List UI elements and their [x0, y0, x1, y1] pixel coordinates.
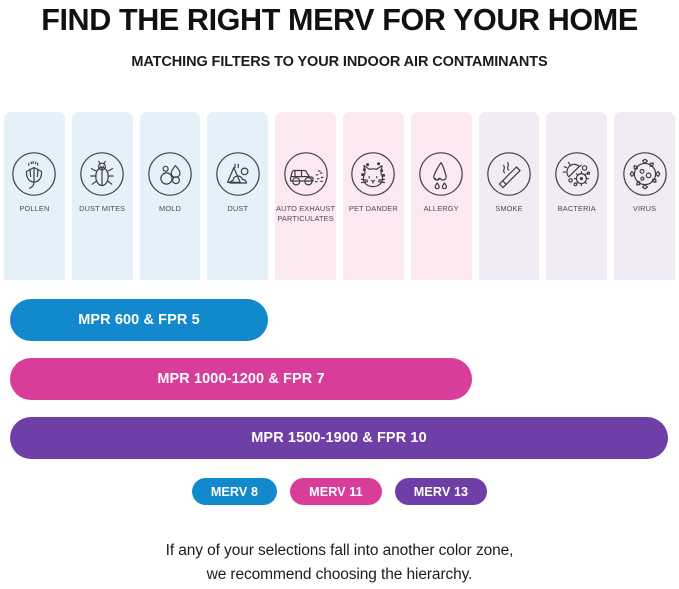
contaminant-column-bacteria: BACTERIA: [546, 112, 607, 280]
contaminant-label: ALLERGY: [411, 204, 472, 214]
contaminant-column-pollen: POLLEN: [4, 112, 65, 280]
footer-note: If any of your selections fall into anot…: [0, 539, 679, 587]
contaminant-label: VIRUS: [614, 204, 675, 214]
footer-line-1: If any of your selections fall into anot…: [0, 539, 679, 563]
page-title: FIND THE RIGHT MERV FOR YOUR HOME: [5, 2, 674, 38]
legend-pill-merv8: MERV 8: [192, 478, 277, 505]
merv-bar-label: MPR 1000-1200 & FPR 7: [157, 371, 324, 387]
nose-allergy-icon: [417, 150, 465, 198]
pollen-flower-icon: [10, 150, 58, 198]
contaminant-label: POLLEN: [4, 204, 65, 214]
contaminant-column-pet-dander: PET DANDER: [343, 112, 404, 280]
merv-bar-label: MPR 1500-1900 & FPR 10: [251, 430, 426, 446]
contaminant-column-mold: MOLD: [140, 112, 201, 280]
contaminant-label: BACTERIA: [546, 204, 607, 214]
contaminant-label: AUTO EXHAUST PARTICULATES: [275, 204, 336, 223]
contaminant-label: DUST: [207, 204, 268, 214]
legend-pill-label: MERV 11: [309, 485, 363, 499]
bacteria-icon: [553, 150, 601, 198]
contaminant-column-smoke: SMOKE: [479, 112, 540, 280]
cigarette-smoke-icon: [485, 150, 533, 198]
merv-legend: MERV 8 MERV 11 MERV 13: [0, 478, 679, 505]
legend-pill-merv11: MERV 11: [290, 478, 382, 505]
page-subtitle: MATCHING FILTERS TO YOUR INDOOR AIR CONT…: [0, 38, 679, 70]
merv-bar-merv8: MPR 600 & FPR 5: [10, 299, 268, 341]
legend-pill-merv13: MERV 13: [395, 478, 487, 505]
merv-bar-merv11: MPR 1000-1200 & FPR 7: [10, 358, 472, 400]
merv-bars: MPR 600 & FPR 5 MPR 1000-1200 & FPR 7 MP…: [0, 280, 679, 460]
cat-face-icon: [349, 150, 397, 198]
contaminant-label: SMOKE: [479, 204, 540, 214]
contaminant-column-dust-mites: DUST MITES: [72, 112, 133, 280]
contaminant-column-virus: VIRUS: [614, 112, 675, 280]
virus-icon: [621, 150, 669, 198]
car-exhaust-icon: [282, 150, 330, 198]
contaminant-label: PET DANDER: [343, 204, 404, 214]
contaminant-column-dust: DUST: [207, 112, 268, 280]
merv-bar-label: MPR 600 & FPR 5: [78, 312, 200, 328]
merv-bar-merv13: MPR 1500-1900 & FPR 10: [10, 417, 668, 459]
contaminant-label: DUST MITES: [72, 204, 133, 214]
dust-mite-bug-icon: [78, 150, 126, 198]
legend-pill-label: MERV 13: [414, 485, 468, 499]
contaminant-label: MOLD: [140, 204, 201, 214]
dust-cloud-icon: [214, 150, 262, 198]
contaminant-column-auto-exhaust: AUTO EXHAUST PARTICULATES: [275, 112, 336, 280]
mold-spores-icon: [146, 150, 194, 198]
infographic-header: FIND THE RIGHT MERV FOR YOUR HOME MATCHI…: [0, 0, 679, 70]
contaminant-column-allergy: ALLERGY: [411, 112, 472, 280]
legend-pill-label: MERV 8: [211, 485, 258, 499]
contaminant-columns: POLLEN DUST MITES: [4, 112, 675, 280]
footer-line-2: we recommend choosing the hierarchy.: [0, 563, 679, 587]
